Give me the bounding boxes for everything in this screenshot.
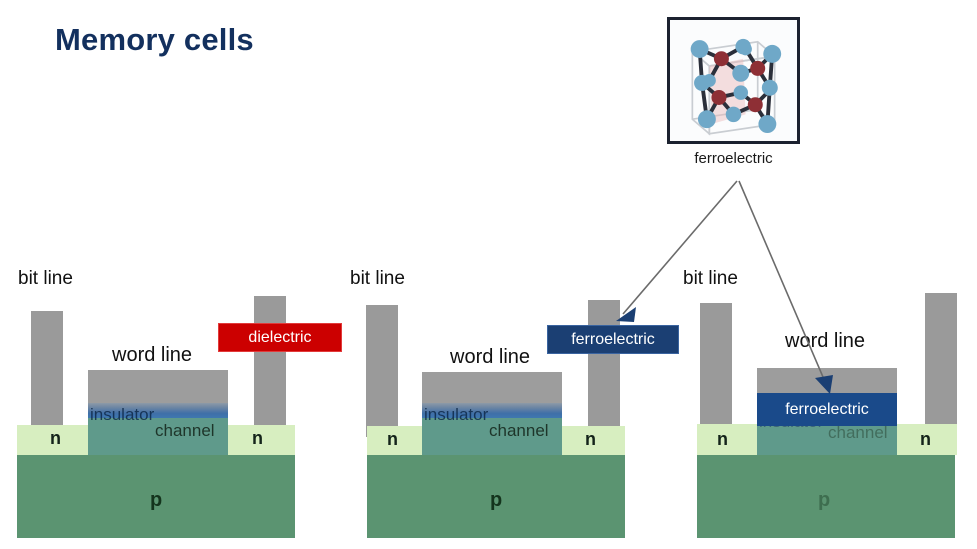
channel-label: channel <box>828 423 888 443</box>
n-label-right: n <box>585 429 596 450</box>
bit-line-label: bit line <box>18 268 73 290</box>
bit-line-right <box>254 296 286 436</box>
ferroelectric-gate-label: ferroelectric <box>785 401 869 419</box>
bit-line-label: bit line <box>683 268 738 290</box>
arrow-line-to-bitline-capacitor <box>623 181 737 314</box>
bit-line-right <box>925 293 957 436</box>
n-label-left: n <box>50 428 61 449</box>
insulator-label: insulator <box>90 405 154 425</box>
word-line-label: word line <box>450 346 530 369</box>
crystal-lattice-icon <box>670 20 797 141</box>
arrow-line-to-fefet-gate <box>739 181 826 384</box>
p-label: p <box>818 489 830 512</box>
ferroelectric-crystal-image <box>667 17 800 144</box>
crystal-caption: ferroelectric <box>667 150 800 167</box>
callout-dielectric-label: dielectric <box>248 329 311 347</box>
channel-label: channel <box>155 421 215 441</box>
word-line-gate <box>757 368 897 395</box>
ferroelectric-gate-block[interactable]: ferroelectric <box>757 393 897 426</box>
bit-line-left <box>700 303 732 436</box>
bit-line-label: bit line <box>350 268 405 290</box>
word-line-label: word line <box>112 344 192 367</box>
slide-canvas: Memory cells <box>0 0 977 549</box>
bit-line-left <box>31 311 63 436</box>
n-label-right: n <box>252 428 263 449</box>
page-title: Memory cells <box>55 22 254 58</box>
callout-dielectric[interactable]: dielectric <box>218 323 342 352</box>
callout-ferroelectric-label: ferroelectric <box>571 331 655 349</box>
insulator-label: insulator <box>424 405 488 425</box>
word-line-gate <box>88 370 228 404</box>
p-label: p <box>490 489 502 512</box>
bit-line-right <box>588 300 620 437</box>
word-line-gate <box>422 372 562 404</box>
n-label-left: n <box>717 429 728 450</box>
callout-ferroelectric[interactable]: ferroelectric <box>547 325 679 354</box>
word-line-label: word line <box>785 330 865 353</box>
p-label: p <box>150 489 162 512</box>
channel-label: channel <box>489 421 549 441</box>
n-label-left: n <box>387 429 398 450</box>
n-label-right: n <box>920 429 931 450</box>
bit-line-left <box>366 305 398 437</box>
